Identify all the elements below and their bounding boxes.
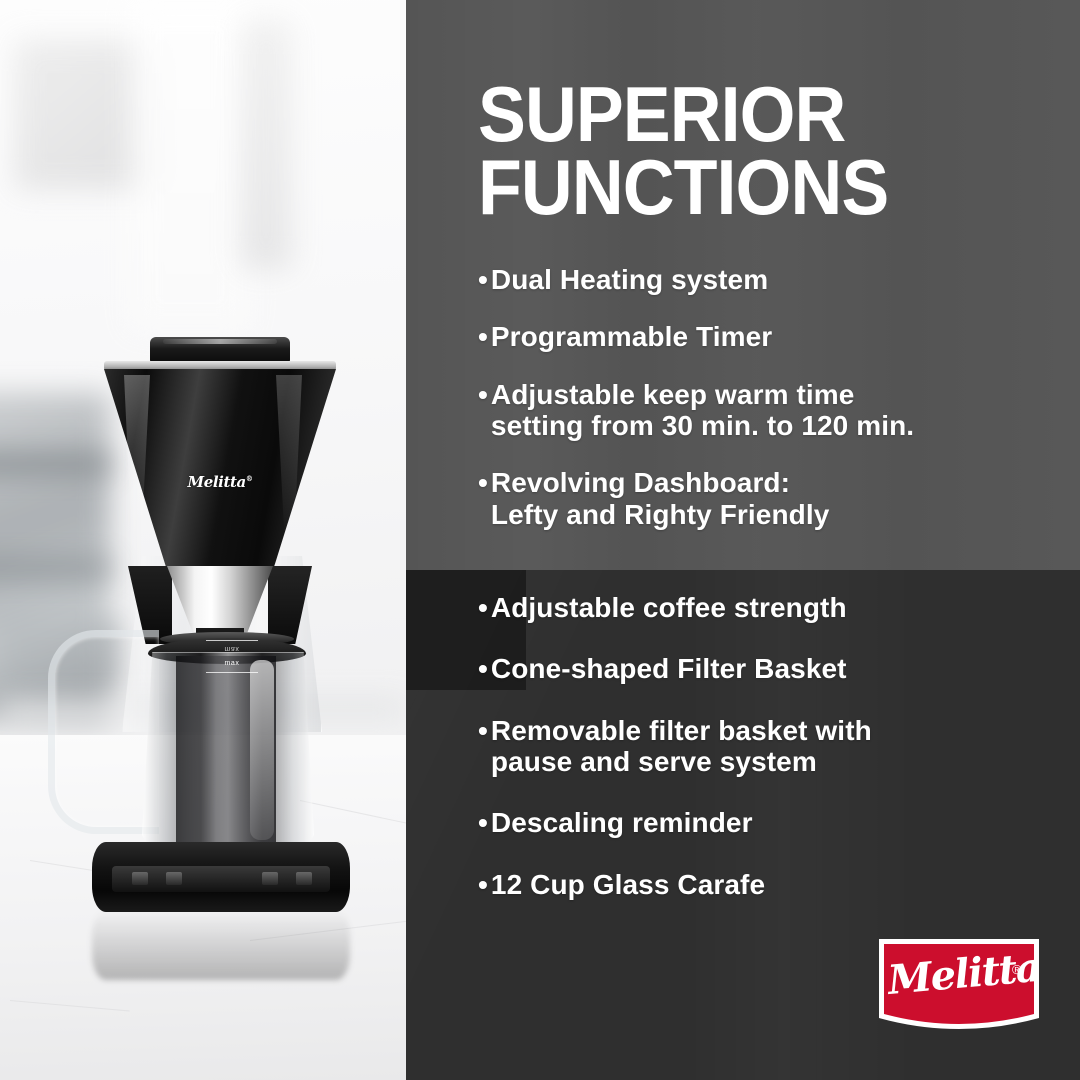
feature-list-top: • Dual Heating system • Programmable Tim… [478, 264, 1038, 556]
bullet-icon: • [478, 379, 488, 442]
product-brand-mark: Melitta® [185, 468, 255, 490]
bullet-icon: • [478, 653, 488, 684]
list-item-label: Descaling reminder [491, 807, 1038, 838]
carafe-highlight [250, 660, 274, 840]
bullet-icon: • [478, 592, 488, 623]
carafe-handle [48, 630, 159, 834]
registered-trademark-icon: ® [1012, 962, 1022, 977]
list-item: • Cone-shaped Filter Basket [478, 653, 1038, 684]
bullet-icon: • [478, 715, 488, 778]
dashboard-button [296, 872, 312, 885]
dashboard-button [262, 872, 278, 885]
carafe-max-label-mirrored: max [206, 645, 258, 652]
list-item: • Removable filter basket with pause and… [478, 715, 1038, 778]
list-item-label: Adjustable coffee strength [491, 592, 1038, 623]
dashboard-button [132, 872, 148, 885]
page-title-line-1: SUPERIOR [478, 78, 993, 151]
product-feature-poster: Melitta® max max [0, 0, 1080, 1080]
bullet-icon: • [478, 807, 488, 838]
carafe-max-label: max [206, 660, 258, 667]
product-photo: Melitta® max max [0, 0, 406, 1080]
list-item: • Programmable Timer [478, 321, 1038, 352]
bullet-icon: • [478, 467, 488, 530]
bullet-icon: • [478, 264, 488, 295]
page-title: SUPERIOR FUNCTIONS [478, 78, 993, 225]
coffee-maker: Melitta® max max [0, 0, 406, 1080]
bullet-icon: • [478, 869, 488, 900]
list-item: • Adjustable coffee strength [478, 592, 1038, 623]
list-item: • Revolving Dashboard: Lefty and Righty … [478, 467, 1038, 530]
carafe-max-line [206, 672, 258, 673]
carafe-max-line [206, 640, 258, 641]
product-brand-mark-text: Melitta [188, 473, 246, 491]
list-item: • Adjustable keep warm time setting from… [478, 379, 1038, 442]
list-item-label: Cone-shaped Filter Basket [491, 653, 1038, 684]
list-item: • 12 Cup Glass Carafe [478, 869, 1038, 900]
dashboard-button [166, 872, 182, 885]
list-item-label: Removable filter basket with pause and s… [491, 715, 1038, 778]
list-item-label: Adjustable keep warm time setting from 3… [491, 379, 1038, 442]
product-brand-mark-registered: ® [246, 474, 253, 483]
list-item-label: 12 Cup Glass Carafe [491, 869, 1038, 900]
list-item-label: Programmable Timer [491, 321, 1038, 352]
feature-list-bottom: • Adjustable coffee strength • Cone-shap… [478, 592, 1038, 930]
list-item-label: Revolving Dashboard: Lefty and Righty Fr… [491, 467, 1038, 530]
list-item: • Dual Heating system [478, 264, 1038, 295]
melitta-logo: Melitta ® [876, 936, 1042, 1036]
base-reflection [92, 910, 350, 980]
page-title-line-2: FUNCTIONS [478, 151, 993, 224]
list-item-label: Dual Heating system [491, 264, 1038, 295]
melitta-wordmark: Melitta [885, 939, 1016, 1012]
list-item: • Descaling reminder [478, 807, 1038, 838]
lid-highlight [163, 339, 277, 344]
bullet-icon: • [478, 321, 488, 352]
